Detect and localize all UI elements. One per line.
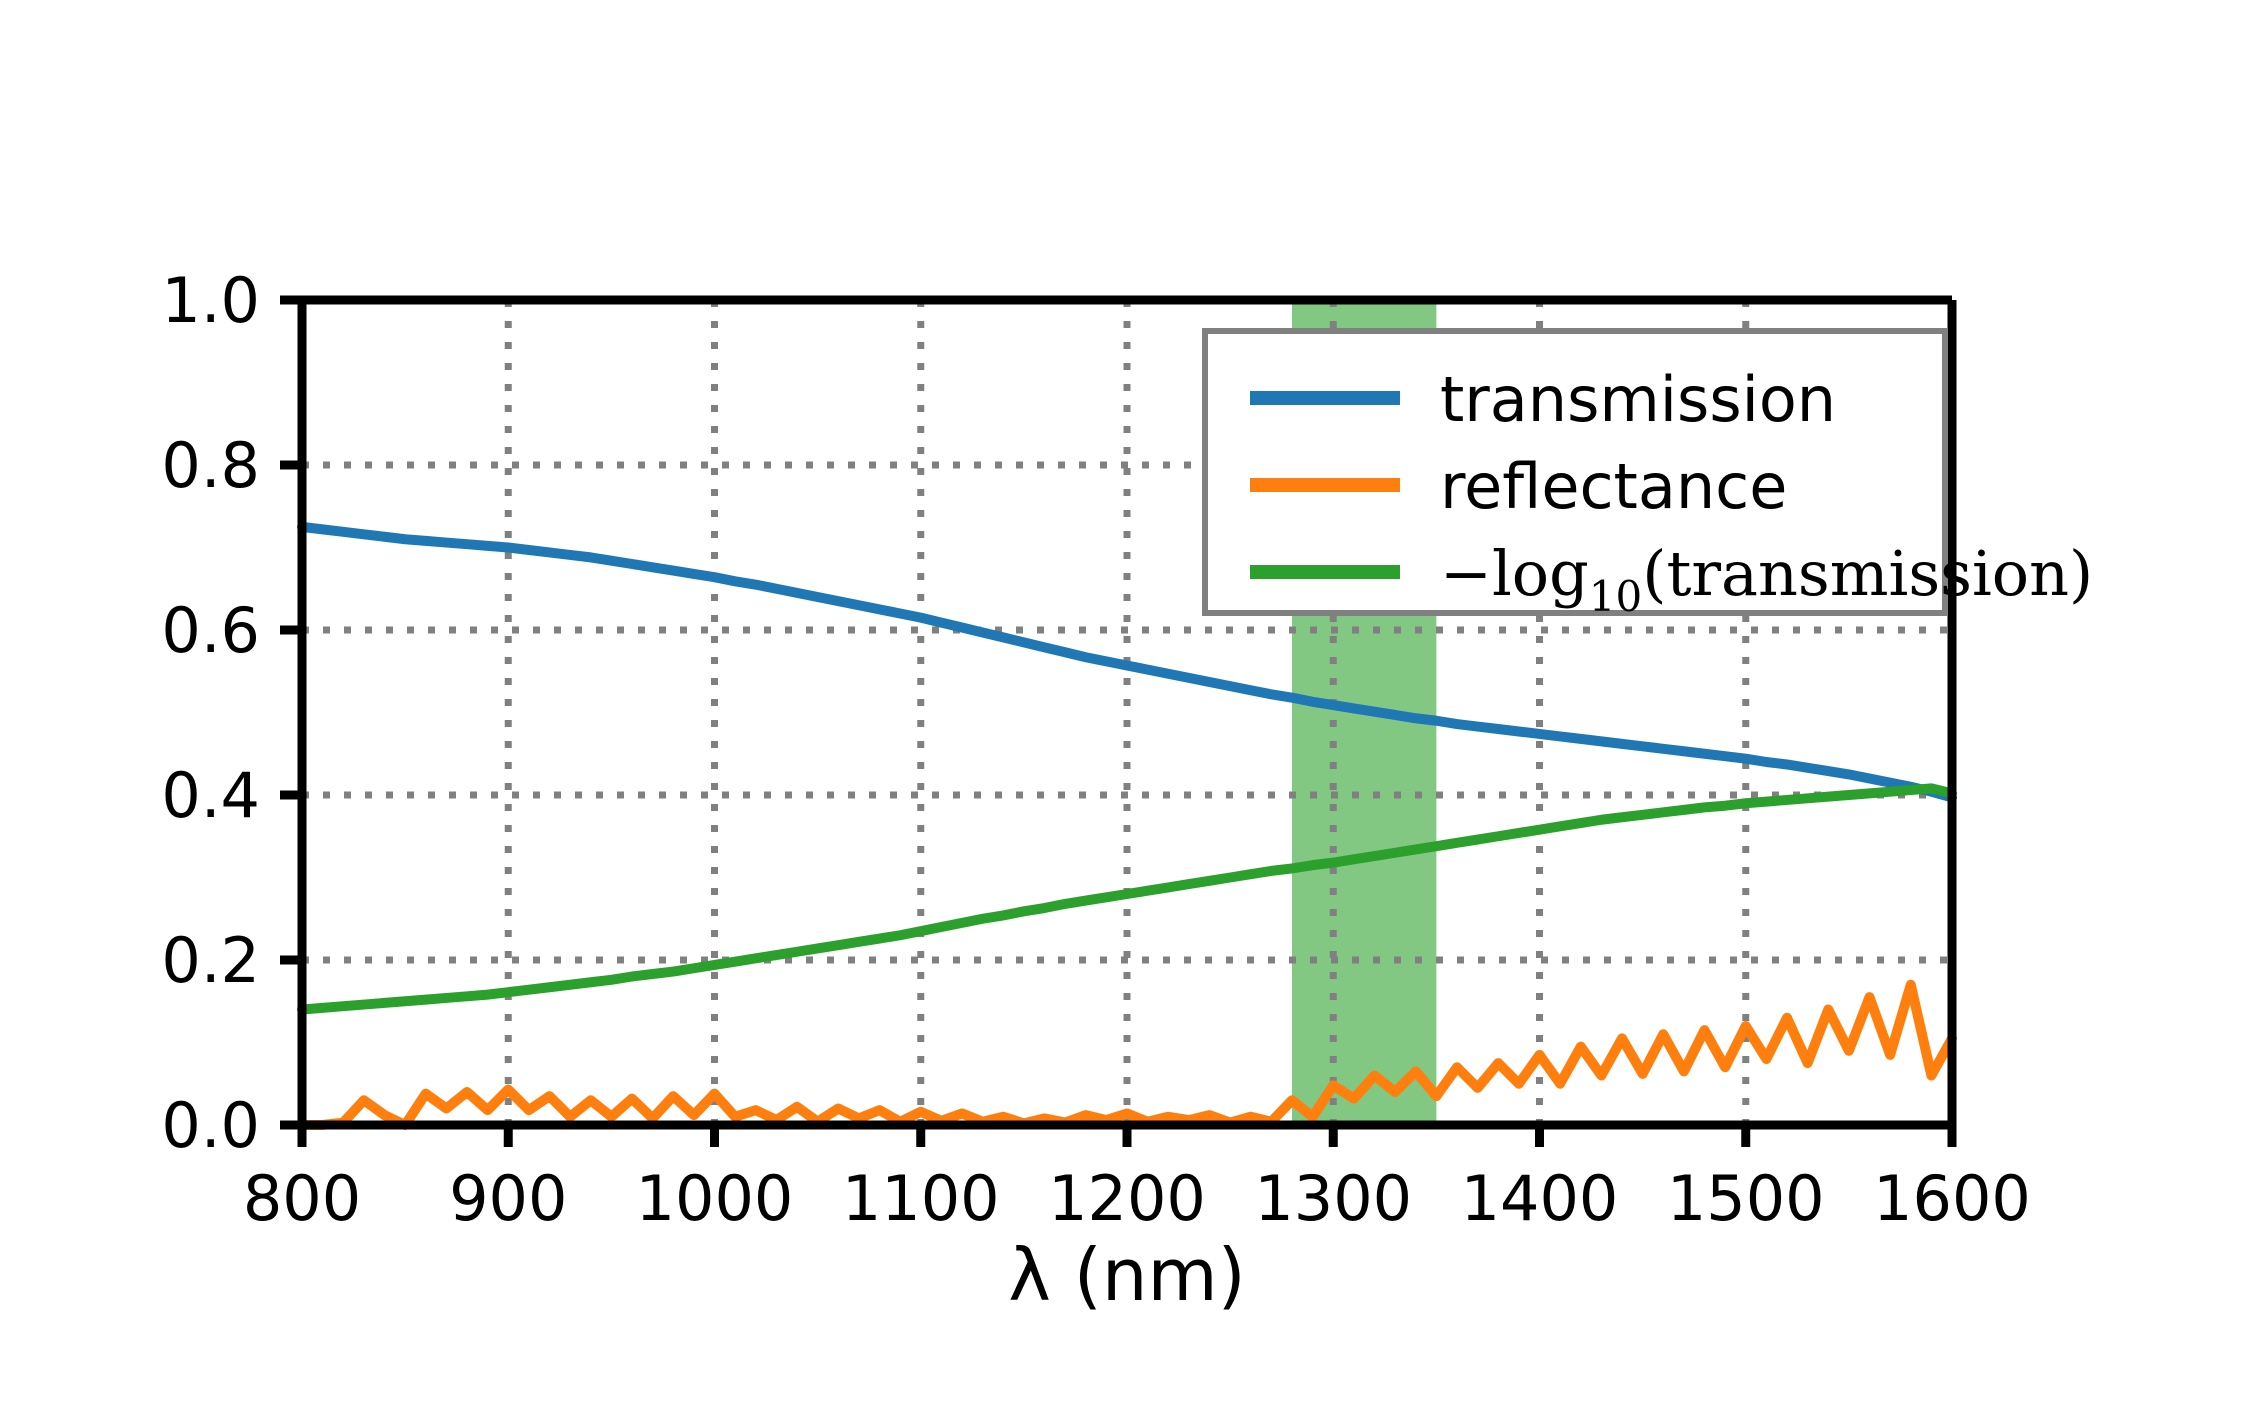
y-tick-label: 0.2 — [161, 924, 260, 997]
x-tick-label: 1100 — [842, 1162, 1000, 1235]
x-tick-label: 1600 — [1873, 1162, 2031, 1235]
x-tick-label: 1000 — [636, 1162, 794, 1235]
x-tick-label: 800 — [243, 1162, 361, 1235]
legend[interactable]: transmissionreflectance−log10(transmissi… — [1205, 331, 2093, 621]
x-tick-label: 1300 — [1254, 1162, 1412, 1235]
y-tick-label: 0.6 — [161, 594, 260, 667]
x-tick-label: 900 — [449, 1162, 567, 1235]
figure-canvas: 80090010001100120013001400150016000.00.2… — [0, 0, 2250, 1425]
legend-label-0: transmission — [1440, 363, 1836, 436]
y-tick-label: 0.4 — [161, 759, 260, 832]
x-axis-title: λ (nm) — [1008, 1233, 1245, 1317]
y-tick-label: 1.0 — [161, 264, 260, 337]
x-tick-label: 1200 — [1048, 1162, 1206, 1235]
x-tick-label: 1500 — [1667, 1162, 1825, 1235]
chart-svg: 80090010001100120013001400150016000.00.2… — [0, 0, 2250, 1425]
x-tick-label: 1400 — [1461, 1162, 1619, 1235]
legend-label-1: reflectance — [1440, 450, 1787, 523]
y-tick-label: 0.0 — [161, 1089, 260, 1162]
y-tick-label: 0.8 — [161, 429, 260, 502]
legend-label-2: −log10(transmission) — [1440, 537, 2093, 621]
